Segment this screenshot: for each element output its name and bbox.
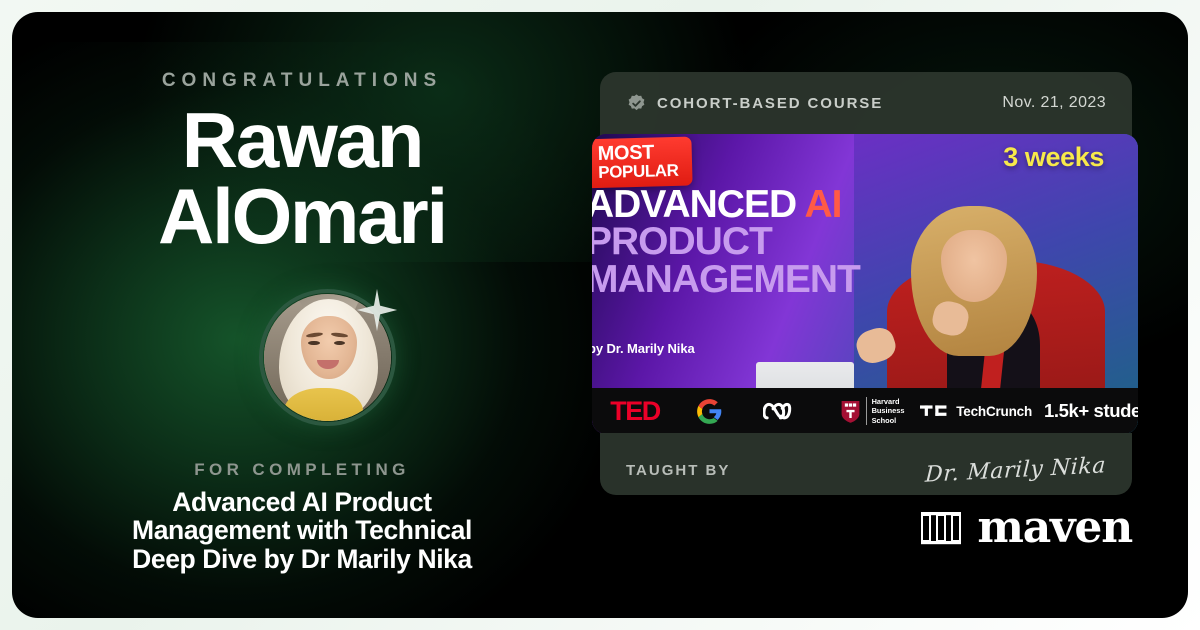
verified-badge-icon: [626, 93, 647, 114]
course-card-footer: TAUGHT BY Dr. Marily Nika: [600, 433, 1132, 495]
hbs-logo-text: HarvardBusinessSchool: [866, 397, 905, 424]
course-kicker: COHORT-BASED COURSE: [657, 95, 883, 112]
techcrunch-logo: TechCrunch: [920, 388, 1032, 434]
thumbnail-title-line-3: MANAGEMENT: [592, 261, 916, 298]
press-logo-strip: TED: [592, 388, 1138, 434]
meta-logo: [746, 388, 824, 434]
thumbnail-title: ADVANCED AI PRODUCT MANAGEMENT: [592, 186, 916, 298]
thumbnail-title-line-1: ADVANCED AI: [592, 186, 916, 223]
thumbnail-byline: by Dr. Marily Nika: [592, 341, 695, 356]
thumbnail-title-accent: AI: [805, 183, 842, 226]
most-popular-badge: MOST POPULAR: [592, 137, 693, 189]
course-title: Advanced AI Product Management with Tech…: [52, 488, 552, 573]
congratulations-label: CONGRATULATIONS: [12, 70, 592, 92]
students-count: 1.5k+ students: [1032, 388, 1138, 434]
maven-wordmark: maven: [977, 506, 1132, 550]
course-title-line-1: Advanced AI Product: [52, 488, 552, 516]
recipient-panel: CONGRATULATIONS Rawan AlOmari: [12, 12, 592, 618]
most-popular-line-2: POPULAR: [598, 162, 679, 181]
ted-logo: TED: [594, 388, 672, 434]
techcrunch-label: TechCrunch: [956, 404, 1032, 419]
recipient-first-name: Rawan: [12, 102, 592, 178]
course-date: Nov. 21, 2023: [1002, 94, 1106, 112]
recipient-name: Rawan AlOmari: [12, 102, 592, 255]
course-thumbnail[interactable]: MOST POPULAR 3 weeks ADVANCED AI PRODUCT…: [592, 134, 1138, 434]
duration-badge: 3 weeks: [1003, 142, 1104, 173]
avatar-ring: [259, 289, 396, 426]
taught-by-label: TAUGHT BY: [626, 462, 730, 479]
google-logo: [672, 388, 746, 434]
avatar: [259, 289, 396, 426]
cohort-badge: COHORT-BASED COURSE: [626, 93, 883, 114]
thumbnail-title-line-2: PRODUCT: [592, 223, 916, 260]
course-title-line-3: Deep Dive by Dr Marily Nika: [52, 545, 552, 573]
maven-logo: maven: [919, 506, 1132, 550]
certificate-card: CONGRATULATIONS Rawan AlOmari: [12, 12, 1188, 618]
course-title-line-2: Management with Technical: [52, 516, 552, 544]
pillars-icon: [919, 506, 963, 550]
harvard-business-school-logo: HarvardBusinessSchool: [824, 388, 920, 434]
for-completing-label: FOR COMPLETING: [12, 460, 592, 480]
recipient-last-name: AlOmari: [12, 178, 592, 254]
instructor-signature: Dr. Marily Nika: [924, 453, 1106, 488]
course-preview-card[interactable]: COHORT-BASED COURSE Nov. 21, 2023 MOST: [600, 72, 1132, 495]
